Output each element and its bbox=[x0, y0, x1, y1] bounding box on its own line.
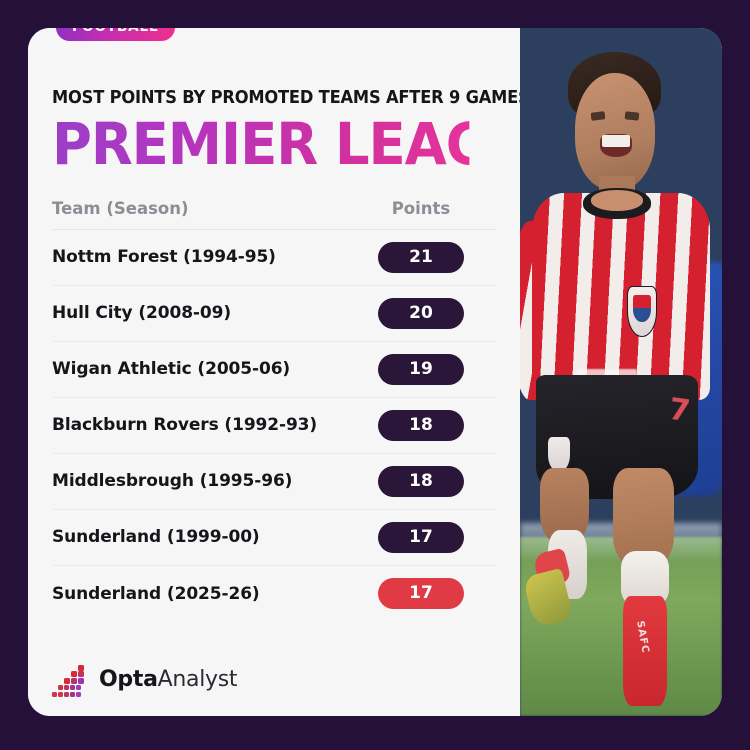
cell-points: 19 bbox=[346, 354, 496, 385]
left-pane: FOOTBALL MOST POINTS BY PROMOTED TEAMS A… bbox=[28, 28, 520, 716]
cell-points: 21 bbox=[346, 242, 496, 273]
cell-team-name: Sunderland (2025-26) bbox=[52, 584, 346, 604]
table-row: Nottm Forest (1994-95)21 bbox=[52, 230, 496, 286]
opta-logo-icon bbox=[52, 664, 88, 694]
cell-points: 17 bbox=[346, 522, 496, 553]
table-row: Sunderland (2025-26)17 bbox=[52, 566, 496, 622]
photo-player-teeth bbox=[602, 135, 630, 147]
table-row: Blackburn Rovers (1992-93)18 bbox=[52, 398, 496, 454]
points-pill: 17 bbox=[378, 522, 464, 553]
brand-name-light: Analyst bbox=[158, 667, 238, 692]
logo-pixel bbox=[70, 685, 75, 690]
points-table: Team (Season) Points Nottm Forest (1994-… bbox=[52, 199, 496, 622]
logo-pixel bbox=[78, 671, 84, 677]
cell-points: 18 bbox=[346, 466, 496, 497]
points-pill: 21 bbox=[378, 242, 464, 273]
player-photo: 7 SAFC bbox=[520, 28, 722, 716]
table-row: Hull City (2008-09)20 bbox=[52, 286, 496, 342]
logo-pixel bbox=[58, 685, 63, 690]
brand-name-bold: Opta bbox=[99, 667, 158, 692]
content-card: FOOTBALL MOST POINTS BY PROMOTED TEAMS A… bbox=[28, 28, 722, 716]
cell-team-name: Blackburn Rovers (1992-93) bbox=[52, 415, 346, 435]
logo-pixel bbox=[71, 671, 77, 677]
logo-pixel bbox=[64, 692, 69, 697]
photo-player-head bbox=[575, 73, 656, 190]
logo-pixel bbox=[64, 678, 70, 684]
logo-pixel bbox=[76, 685, 81, 690]
cell-team-name: Wigan Athletic (2005-06) bbox=[52, 359, 346, 379]
cell-points: 18 bbox=[346, 410, 496, 441]
infographic-canvas: FOOTBALL MOST POINTS BY PROMOTED TEAMS A… bbox=[0, 0, 750, 750]
cell-team-name: Nottm Forest (1994-95) bbox=[52, 247, 346, 267]
cell-team-name: Hull City (2008-09) bbox=[52, 303, 346, 323]
cell-team-name: Sunderland (1999-00) bbox=[52, 527, 346, 547]
logo-pixel bbox=[64, 685, 69, 690]
photo-player-collar-inner bbox=[591, 190, 644, 211]
logo-pixel bbox=[78, 678, 84, 684]
table-row: Middlesbrough (1995-96)18 bbox=[52, 454, 496, 510]
brand-footer: OptaAnalyst bbox=[52, 664, 237, 694]
table-body: Nottm Forest (1994-95)21Hull City (2008-… bbox=[52, 230, 496, 622]
page-title: PREMIER LEAGUE bbox=[52, 116, 469, 173]
points-pill: 19 bbox=[378, 354, 464, 385]
cell-team-name: Middlesbrough (1995-96) bbox=[52, 471, 346, 491]
cell-points: 20 bbox=[346, 298, 496, 329]
table-row: Wigan Athletic (2005-06)19 bbox=[52, 342, 496, 398]
photo-player-brow-left bbox=[590, 111, 605, 120]
points-pill: 18 bbox=[378, 410, 464, 441]
logo-pixel bbox=[70, 692, 75, 697]
points-pill: 18 bbox=[378, 466, 464, 497]
table-row: Sunderland (1999-00)17 bbox=[52, 510, 496, 566]
column-header-team: Team (Season) bbox=[52, 199, 346, 218]
points-pill-highlighted: 17 bbox=[378, 578, 464, 609]
category-badge: FOOTBALL bbox=[56, 28, 175, 41]
column-header-points: Points bbox=[346, 199, 496, 218]
logo-pixel bbox=[58, 692, 63, 697]
brand-name: OptaAnalyst bbox=[99, 667, 237, 692]
cell-points: 17 bbox=[346, 578, 496, 609]
photo-club-crest bbox=[627, 286, 657, 337]
logo-pixel bbox=[71, 678, 77, 684]
logo-pixel bbox=[52, 692, 57, 697]
photo-player-brow-right bbox=[625, 111, 640, 120]
kicker-text: MOST POINTS BY PROMOTED TEAMS AFTER 9 GA… bbox=[52, 88, 465, 108]
logo-pixel bbox=[76, 692, 81, 697]
table-header-row: Team (Season) Points bbox=[52, 199, 496, 230]
logo-pixel bbox=[78, 665, 84, 671]
category-badge-wrapper: FOOTBALL bbox=[56, 28, 175, 41]
points-pill: 20 bbox=[378, 298, 464, 329]
